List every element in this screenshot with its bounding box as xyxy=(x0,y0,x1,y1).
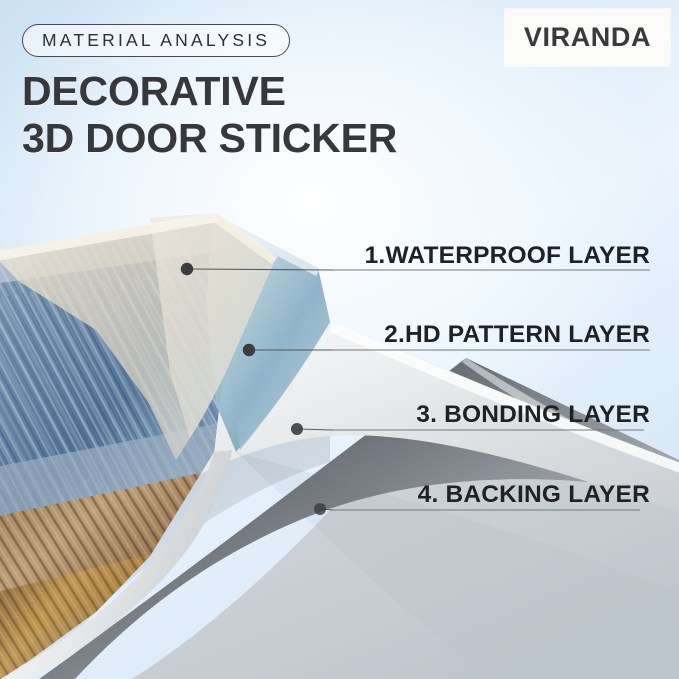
callout-4-label: 4. BACKING LAYER xyxy=(418,481,679,509)
eyebrow-label: MATERIAL ANALYSIS xyxy=(42,30,270,51)
callout-4: 4. BACKING LAYER xyxy=(418,481,679,509)
eyebrow-pill: MATERIAL ANALYSIS xyxy=(22,24,290,57)
page-title: DECORATIVE 3D DOOR STICKER xyxy=(22,68,397,162)
page-title-line-2: 3D DOOR STICKER xyxy=(22,115,397,162)
page-title-line-1: DECORATIVE xyxy=(22,68,286,114)
material-analysis-graphic: 1.WATERPROOF LAYER 2.HD PATTERN LAYER 3.… xyxy=(0,0,679,679)
brand-logo-text: VIRANDA xyxy=(524,22,651,53)
callout-1-label: 1.WATERPROOF LAYER xyxy=(365,242,679,270)
callout-3-label: 3. BONDING LAYER xyxy=(416,401,679,429)
callout-2: 2.HD PATTERN LAYER xyxy=(384,321,679,349)
callout-3: 3. BONDING LAYER xyxy=(416,401,679,429)
brand-logo: VIRANDA xyxy=(505,9,670,66)
callout-2-label: 2.HD PATTERN LAYER xyxy=(384,321,679,349)
callout-1: 1.WATERPROOF LAYER xyxy=(365,242,679,270)
